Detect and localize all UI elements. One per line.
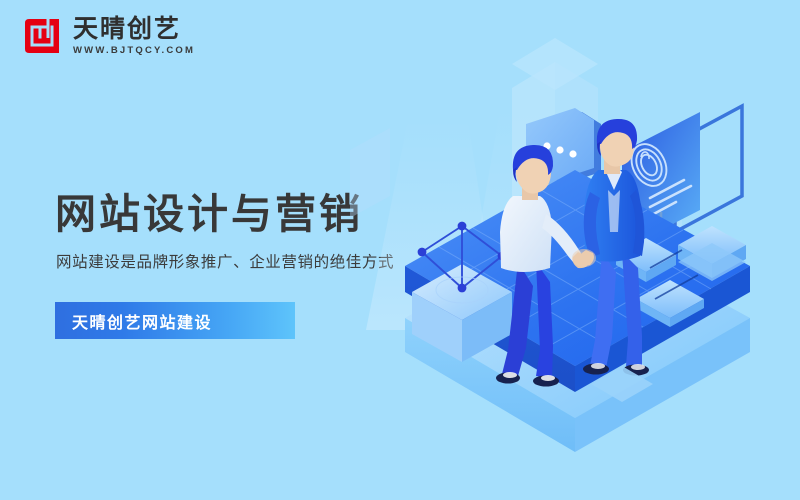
tqcy-logo-mark-icon [22, 16, 62, 56]
handshake [572, 249, 596, 267]
site-logo[interactable]: 天晴创艺 WWW.BJTQCY.COM [22, 16, 195, 56]
isometric-handshake-illustration [350, 0, 800, 500]
logo-brand-url: WWW.BJTQCY.COM [73, 46, 195, 56]
person-left-shirt [500, 196, 552, 272]
cta-button-label: 天晴创艺网站建设 [55, 309, 212, 333]
page-subtitle: 网站建设是品牌形象推广、企业营销的绝佳方式 [56, 250, 394, 272]
page-title: 网站设计与营销 [55, 180, 363, 240]
logo-brand-name: 天晴创艺 [73, 16, 195, 41]
floating-panel-left [350, 128, 390, 218]
cta-button[interactable]: 天晴创艺网站建设 [55, 302, 295, 339]
hero-banner: 天晴创艺 WWW.BJTQCY.COM 网站设计与营销 网站建设是品牌形象推广、… [0, 0, 800, 500]
